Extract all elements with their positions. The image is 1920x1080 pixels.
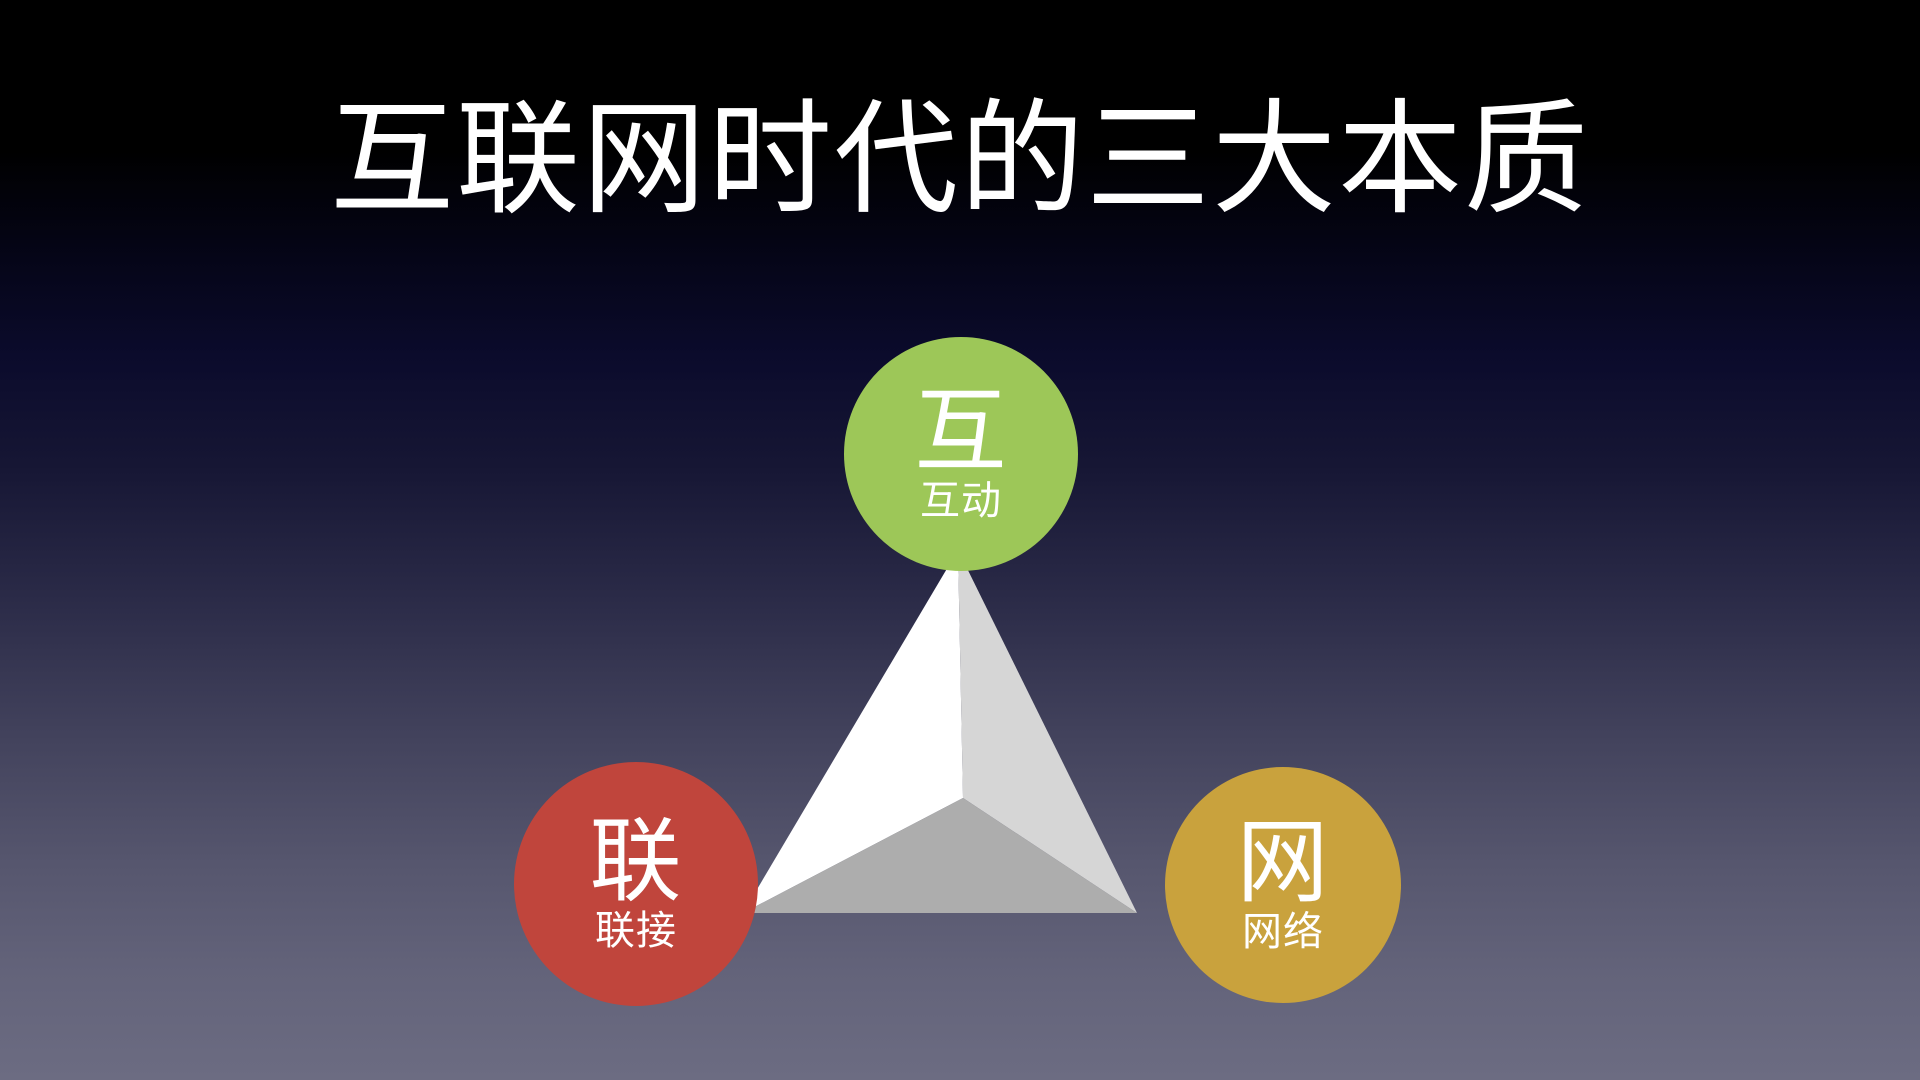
node-hu-sublabel: 互动 [920,481,1002,521]
node-lian[interactable]: 联 联接 [514,762,758,1006]
pyramid-right-face [958,550,1137,913]
page-title: 互联网时代的三大本质 [0,92,1920,228]
pyramid-left-face [743,550,963,913]
node-hu-glyph: 互 [914,387,1007,477]
pyramid-front-face [743,798,1137,913]
node-wang[interactable]: 网 网络 [1165,767,1401,1003]
node-hu[interactable]: 互 互动 [844,337,1078,571]
node-wang-sublabel: 网络 [1242,912,1324,952]
slide-canvas: 互联网时代的三大本质 互 互动 联 联接 网 网络 [0,0,1920,1080]
node-wang-glyph: 网 [1236,818,1329,908]
node-lian-glyph: 联 [589,817,682,907]
node-lian-sublabel: 联接 [595,911,677,951]
